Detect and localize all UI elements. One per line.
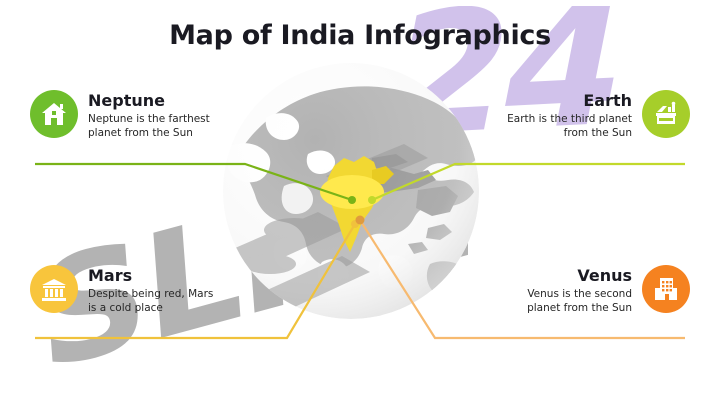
globe-svg [222,62,480,320]
office-building-icon [651,274,681,304]
earth-title: Earth [500,92,632,110]
infographic-slide: 24 SLIDE [0,0,720,406]
house-icon [39,99,69,129]
earth-badge[interactable] [642,90,690,138]
info-item-earth[interactable]: Earth Earth is the third planet from the… [500,90,690,141]
bank-building-icon [39,274,69,304]
mars-description: Despite being red, Mars is a cold place [88,288,220,316]
venus-title: Venus [500,267,632,285]
venus-badge[interactable] [642,265,690,313]
neptune-text: Neptune Neptune is the farthest planet f… [88,90,220,141]
page-title: Map of India Infographics [0,20,720,51]
earth-description: Earth is the third planet from the Sun [500,113,632,141]
neptune-description: Neptune is the farthest planet from the … [88,113,220,141]
market-stall-icon [651,99,681,129]
venus-text: Venus Venus is the second planet from th… [500,265,632,316]
neptune-badge[interactable] [30,90,78,138]
venus-description: Venus is the second planet from the Sun [500,288,632,316]
info-item-mars[interactable]: Mars Despite being red, Mars is a cold p… [30,265,220,316]
india-marker [320,175,384,209]
earth-text: Earth Earth is the third planet from the… [500,90,632,141]
info-item-neptune[interactable]: Neptune Neptune is the farthest planet f… [30,90,220,141]
mars-text: Mars Despite being red, Mars is a cold p… [88,265,220,316]
mars-badge[interactable] [30,265,78,313]
neptune-title: Neptune [88,92,220,110]
info-item-venus[interactable]: Venus Venus is the second planet from th… [500,265,690,316]
mars-title: Mars [88,267,220,285]
world-globe [222,62,480,320]
